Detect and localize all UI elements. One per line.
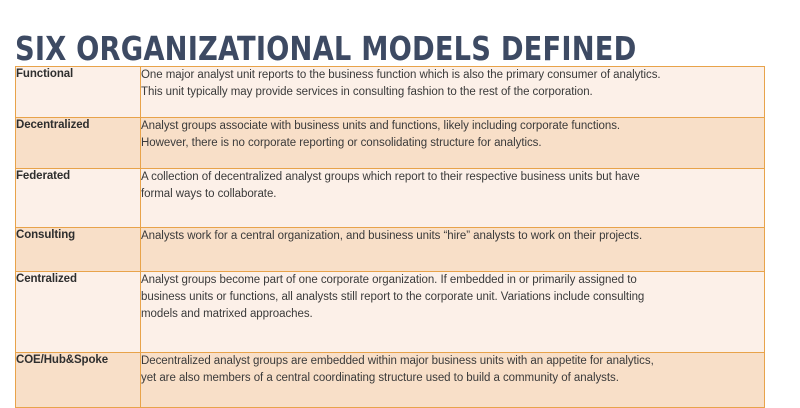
page-title: SIX ORGANIZATIONAL MODELS DEFINED xyxy=(15,28,714,70)
table-body: Functional One major analyst unit report… xyxy=(16,67,765,408)
description-line: However, there is no corporate reporting… xyxy=(141,135,764,152)
model-name-cell: Federated xyxy=(16,169,141,228)
table-row: COE/Hub&Spoke Decentralized analyst grou… xyxy=(16,353,765,408)
model-description-cell: A collection of decentralized analyst gr… xyxy=(141,169,765,228)
description-line: formal ways to collaborate. xyxy=(141,186,764,203)
table-row: Federated A collection of decentralized … xyxy=(16,169,765,228)
model-description-cell: Analyst groups become part of one corpor… xyxy=(141,272,765,353)
table-row: Functional One major analyst unit report… xyxy=(16,67,765,118)
model-name-cell: Decentralized xyxy=(16,118,141,169)
description-line: Decentralized analyst groups are embedde… xyxy=(141,353,764,370)
model-description-cell: Decentralized analyst groups are embedde… xyxy=(141,353,765,408)
table-row: Decentralized Analyst groups associate w… xyxy=(16,118,765,169)
model-name-cell: Centralized xyxy=(16,272,141,353)
description-line: A collection of decentralized analyst gr… xyxy=(141,169,764,186)
description-line: Analysts work for a central organization… xyxy=(141,228,764,245)
model-name-cell: COE/Hub&Spoke xyxy=(16,353,141,408)
model-description-cell: Analyst groups associate with business u… xyxy=(141,118,765,169)
model-name-cell: Consulting xyxy=(16,228,141,272)
table-row: Centralized Analyst groups become part o… xyxy=(16,272,765,353)
description-line: models and matrixed approaches. xyxy=(141,306,764,323)
organizational-models-table: Functional One major analyst unit report… xyxy=(15,66,765,408)
description-line: This unit typically may provide services… xyxy=(141,84,764,101)
description-line: business units or functions, all analyst… xyxy=(141,289,764,306)
table-row: Consulting Analysts work for a central o… xyxy=(16,228,765,272)
model-description-cell: Analysts work for a central organization… xyxy=(141,228,765,272)
description-line: One major analyst unit reports to the bu… xyxy=(141,67,764,84)
description-line: yet are also members of a central coordi… xyxy=(141,370,764,387)
page-root: SIX ORGANIZATIONAL MODELS DEFINED Functi… xyxy=(0,0,800,401)
model-name-cell: Functional xyxy=(16,67,141,118)
description-line: Analyst groups become part of one corpor… xyxy=(141,272,764,289)
model-description-cell: One major analyst unit reports to the bu… xyxy=(141,67,765,118)
description-line: Analyst groups associate with business u… xyxy=(141,118,764,135)
